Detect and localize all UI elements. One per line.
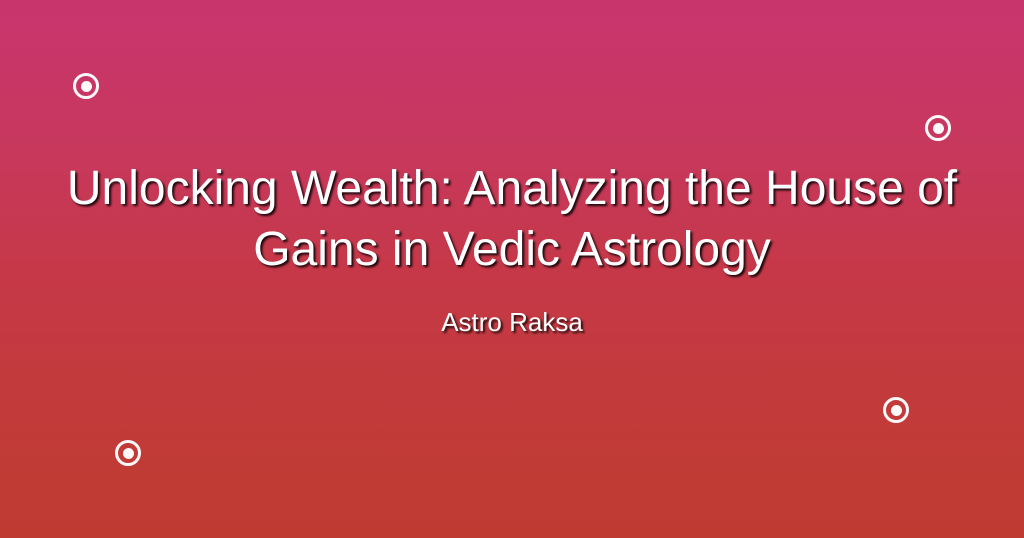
slide-content: Unlocking Wealth: Analyzing the House of… [0,0,1024,538]
title-slide: Unlocking Wealth: Analyzing the House of… [0,0,1024,538]
slide-subtitle: Astro Raksa [56,306,968,338]
slide-title: Unlocking Wealth: Analyzing the House of… [56,158,968,280]
